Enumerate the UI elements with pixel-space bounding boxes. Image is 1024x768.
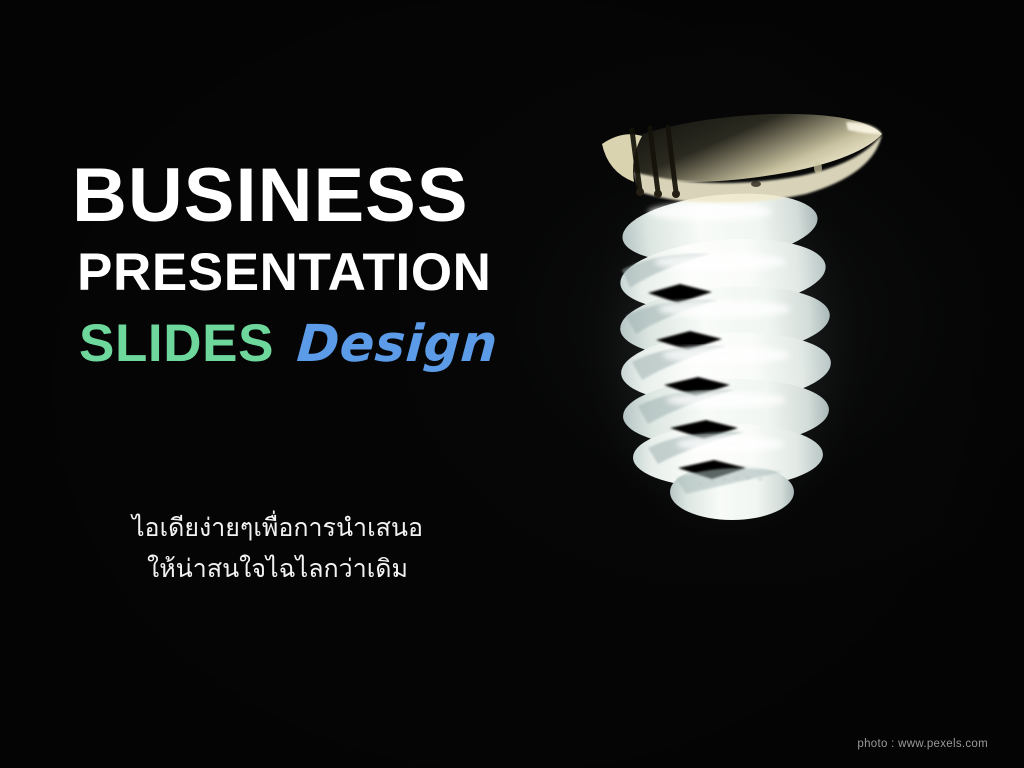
title-word-slides: SLIDES [79, 313, 274, 374]
bulb-base [602, 114, 882, 204]
subtitle-line-2: ให้น่าสนใจไฉไลกว่าเดิม [65, 549, 490, 590]
title-line-slides-design: SLIDES Design [72, 313, 502, 374]
title-line-business: BUSINESS [72, 160, 502, 232]
lightbulb-photo [560, 100, 890, 550]
subtitle-block: ไอเดียง่ายๆเพื่อการนำเสนอ ให้น่าสนใจไฉไล… [65, 508, 490, 589]
presentation-slide: BUSINESS PRESENTATION SLIDES Design ไอเด… [0, 0, 1024, 768]
title-word-design: Design [295, 315, 500, 374]
title-line-presentation: PRESENTATION [72, 246, 502, 299]
subtitle-line-1: ไอเดียง่ายๆเพื่อการนำเสนอ [65, 508, 490, 549]
title-block: BUSINESS PRESENTATION SLIDES Design [72, 160, 502, 374]
photo-credit: photo : www.pexels.com [857, 738, 988, 750]
